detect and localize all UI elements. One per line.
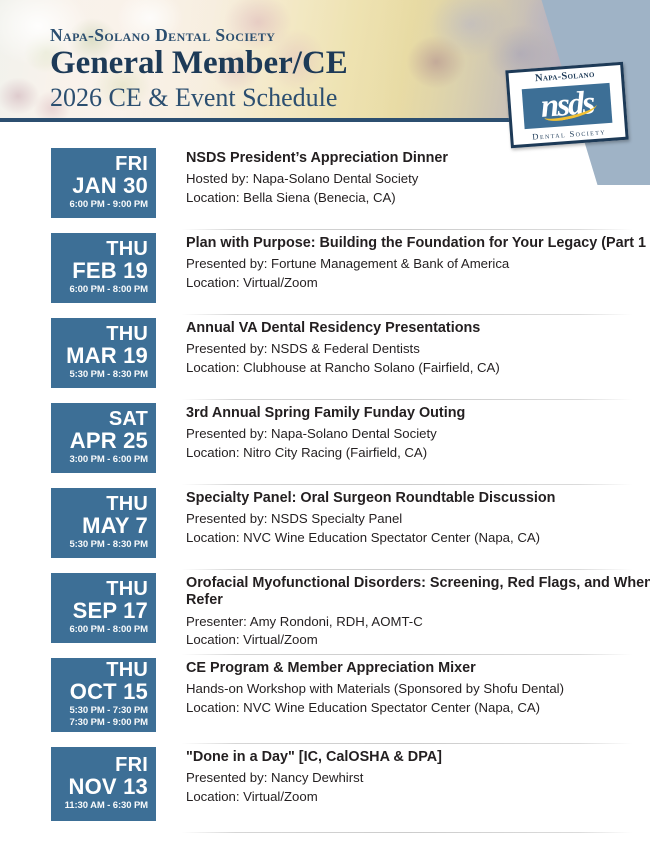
event-time-range: 6:00 PM - 9:00 PM	[57, 199, 148, 211]
event-month-day: OCT 15	[57, 680, 148, 703]
logo-monogram-box: nsds	[522, 83, 613, 129]
event-date-box: FRINOV 1311:30 AM - 6:30 PM	[51, 747, 156, 821]
event-month-day: SEP 17	[57, 599, 148, 622]
event-location: Location: NVC Wine Education Spectator C…	[186, 699, 650, 718]
event-title: Orofacial Myofunctional Disorders: Scree…	[186, 575, 650, 610]
event-details: Orofacial Myofunctional Disorders: Scree…	[156, 573, 650, 650]
event-day-of-week: FRI	[57, 755, 148, 775]
event-details: NSDS President’s Appreciation DinnerHost…	[156, 148, 650, 208]
event-day-of-week: SAT	[57, 409, 148, 429]
event-title: "Done in a Day" [IC, CalOSHA & DPA]	[186, 749, 650, 766]
event-time-range: 5:30 PM - 8:30 PM	[57, 369, 148, 381]
event-time-range: 5:30 PM - 7:30 PM	[57, 705, 148, 717]
event-title: Specialty Panel: Oral Surgeon Roundtable…	[186, 490, 650, 507]
event-time-range: 5:30 PM - 8:30 PM	[57, 539, 148, 551]
event-time-range: 7:30 PM - 9:00 PM	[57, 717, 148, 729]
event-row[interactable]: SATAPR 253:00 PM - 6:00 PM3rd Annual Spr…	[0, 403, 650, 473]
event-day-of-week: THU	[57, 494, 148, 514]
header-title-block: Napa-Solano Dental Society General Membe…	[50, 26, 348, 113]
event-date-box: THUSEP 176:00 PM - 8:00 PM	[51, 573, 156, 643]
event-details: Annual VA Dental Residency Presentations…	[156, 318, 650, 378]
event-row[interactable]: FRINOV 1311:30 AM - 6:30 PM"Done in a Da…	[0, 747, 650, 821]
event-date-box: THUFEB 196:00 PM - 8:00 PM	[51, 233, 156, 303]
event-time-range: 6:00 PM - 8:00 PM	[57, 624, 148, 636]
event-time-range-group: 5:30 PM - 8:30 PM	[57, 369, 148, 381]
event-time-range-group: 3:00 PM - 6:00 PM	[57, 454, 148, 466]
event-location: Location: NVC Wine Education Spectator C…	[186, 529, 650, 548]
event-row-separator	[181, 654, 633, 655]
event-row-separator	[181, 569, 633, 570]
event-presenter: Presented by: NSDS & Federal Dentists	[186, 340, 650, 359]
event-details: Plan with Purpose: Building the Foundati…	[156, 233, 650, 293]
event-title: Annual VA Dental Residency Presentations	[186, 320, 650, 337]
nsds-logo: Napa-Solano nsds Dental Society	[505, 62, 628, 148]
event-presenter: Presenter: Amy Rondoni, RDH, AOMT-C	[186, 613, 650, 632]
event-details: 3rd Annual Spring Family Funday OutingPr…	[156, 403, 650, 463]
event-day-of-week: THU	[57, 660, 148, 680]
event-presenter: Hands-on Workshop with Materials (Sponso…	[186, 680, 650, 699]
page-title: General Member/CE	[50, 45, 348, 81]
event-date-box: THUMAR 195:30 PM - 8:30 PM	[51, 318, 156, 388]
event-details: CE Program & Member Appreciation MixerHa…	[156, 658, 650, 718]
event-row-separator	[181, 743, 633, 744]
event-presenter: Hosted by: Napa-Solano Dental Society	[186, 170, 650, 189]
event-day-of-week: THU	[57, 239, 148, 259]
event-presenter: Presented by: Nancy Dewhirst	[186, 769, 650, 788]
event-time-range-group: 11:30 AM - 6:30 PM	[57, 800, 148, 812]
event-details: Specialty Panel: Oral Surgeon Roundtable…	[156, 488, 650, 548]
event-date-box: FRIJAN 306:00 PM - 9:00 PM	[51, 148, 156, 218]
event-time-range: 11:30 AM - 6:30 PM	[57, 800, 148, 812]
event-location: Location: Virtual/Zoom	[186, 274, 650, 293]
event-row-separator	[181, 832, 633, 833]
event-month-day: MAY 7	[57, 514, 148, 537]
event-presenter: Presented by: NSDS Specialty Panel	[186, 510, 650, 529]
event-day-of-week: THU	[57, 579, 148, 599]
event-month-day: MAR 19	[57, 344, 148, 367]
event-time-range-group: 6:00 PM - 8:00 PM	[57, 284, 148, 296]
event-row-separator	[181, 229, 633, 230]
event-title: NSDS President’s Appreciation Dinner	[186, 150, 650, 167]
event-location: Location: Nitro City Racing (Fairfield, …	[186, 444, 650, 463]
event-location: Location: Clubhouse at Rancho Solano (Fa…	[186, 359, 650, 378]
event-date-box: SATAPR 253:00 PM - 6:00 PM	[51, 403, 156, 473]
event-time-range-group: 6:00 PM - 9:00 PM	[57, 199, 148, 211]
event-month-day: JAN 30	[57, 174, 148, 197]
event-row[interactable]: FRIJAN 306:00 PM - 9:00 PMNSDS President…	[0, 148, 650, 218]
event-time-range-group: 5:30 PM - 8:30 PM	[57, 539, 148, 551]
page-subtitle: 2026 CE & Event Schedule	[50, 83, 348, 114]
event-row[interactable]: THUFEB 196:00 PM - 8:00 PMPlan with Purp…	[0, 233, 650, 303]
logo-top-text: Napa-Solano	[535, 70, 595, 85]
event-month-day: FEB 19	[57, 259, 148, 282]
event-date-box: THUMAY 75:30 PM - 8:30 PM	[51, 488, 156, 558]
logo-bottom-text: Dental Society	[532, 127, 606, 141]
event-time-range-group: 5:30 PM - 7:30 PM7:30 PM - 9:00 PM	[57, 705, 148, 729]
event-presenter: Presented by: Fortune Management & Bank …	[186, 255, 650, 274]
event-date-box: THUOCT 155:30 PM - 7:30 PM7:30 PM - 9:00…	[51, 658, 156, 732]
event-row-separator	[181, 484, 633, 485]
event-location: Location: Virtual/Zoom	[186, 631, 650, 650]
event-details: "Done in a Day" [IC, CalOSHA & DPA]Prese…	[156, 747, 650, 807]
event-time-range: 3:00 PM - 6:00 PM	[57, 454, 148, 466]
event-row[interactable]: THUOCT 155:30 PM - 7:30 PM7:30 PM - 9:00…	[0, 658, 650, 732]
event-day-of-week: THU	[57, 324, 148, 344]
organization-name: Napa-Solano Dental Society	[50, 26, 348, 44]
event-title: Plan with Purpose: Building the Foundati…	[186, 235, 650, 252]
event-title: CE Program & Member Appreciation Mixer	[186, 660, 650, 677]
event-row[interactable]: THUMAY 75:30 PM - 8:30 PMSpecialty Panel…	[0, 488, 650, 558]
event-row-separator	[181, 314, 633, 315]
event-time-range: 6:00 PM - 8:00 PM	[57, 284, 148, 296]
event-title: 3rd Annual Spring Family Funday Outing	[186, 405, 650, 422]
event-row[interactable]: THUSEP 176:00 PM - 8:00 PMOrofacial Myof…	[0, 573, 650, 650]
event-row[interactable]: THUMAR 195:30 PM - 8:30 PMAnnual VA Dent…	[0, 318, 650, 388]
event-presenter: Presented by: Napa-Solano Dental Society	[186, 425, 650, 444]
event-location: Location: Virtual/Zoom	[186, 788, 650, 807]
event-time-range-group: 6:00 PM - 8:00 PM	[57, 624, 148, 636]
event-month-day: APR 25	[57, 429, 148, 452]
event-row-separator	[181, 399, 633, 400]
event-location: Location: Bella Siena (Benecia, CA)	[186, 189, 650, 208]
event-month-day: NOV 13	[57, 775, 148, 798]
event-day-of-week: FRI	[57, 154, 148, 174]
